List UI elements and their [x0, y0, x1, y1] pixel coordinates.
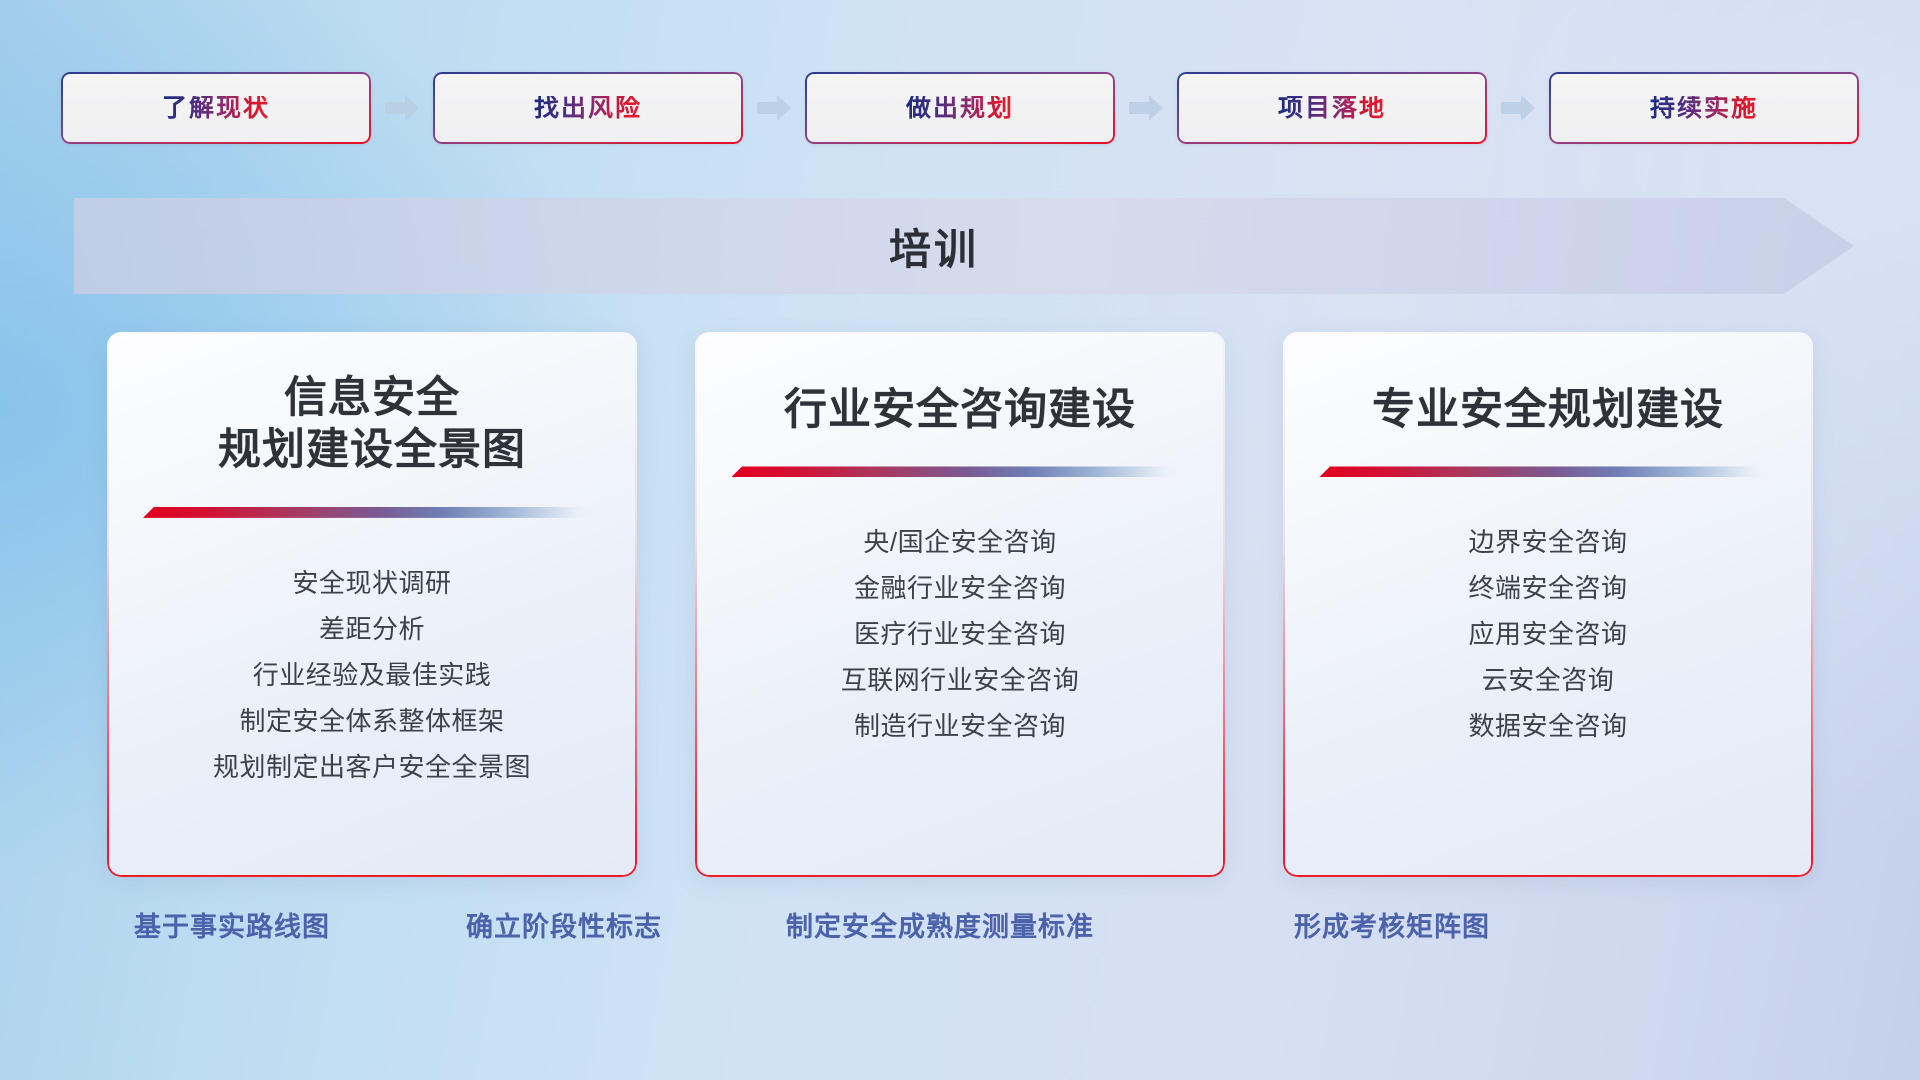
list-item: 边界安全咨询 [1283, 519, 1813, 565]
card-title-line: 规划建设全景图 [129, 424, 615, 476]
card-title-line: 行业安全咨询建设 [717, 384, 1203, 436]
list-item: 终端安全咨询 [1283, 565, 1813, 611]
list-item: 医疗行业安全咨询 [695, 611, 1225, 657]
card-divider-1 [731, 466, 1185, 477]
footer-label-row: 基于事实路线图 确立阶段性标志 制定安全成熟度测量标准 形成考核矩阵图 [0, 905, 1920, 965]
list-item: 金融行业安全咨询 [695, 565, 1225, 611]
card-title-line: 专业安全规划建设 [1305, 384, 1791, 436]
card-divider-0 [143, 507, 597, 518]
step-box-4[interactable]: 持续实施 [1549, 72, 1859, 144]
right-arrow-icon [385, 93, 419, 123]
list-item: 行业经验及最佳实践 [107, 652, 637, 698]
step-box-0[interactable]: 了解现状 [61, 72, 371, 144]
list-item: 制定安全体系整体框架 [107, 698, 637, 744]
card-divider-wrap-1 [695, 466, 1225, 479]
process-step-row: 了解现状 找出风险 做出规划 项目落地 持续实施 [0, 72, 1920, 144]
step-label-4: 持续实施 [1650, 96, 1758, 121]
card-list-0: 安全现状调研 差距分析 行业经验及最佳实践 制定安全体系整体框架 规划制定出客户… [107, 560, 637, 790]
footer-label-2: 制定安全成熟度测量标准 [786, 905, 1094, 944]
right-arrow-icon [1129, 93, 1163, 123]
service-card-2[interactable]: 专业安全规划建设 边界安全咨询 终端安全咨询 应用安全咨询 云安全咨询 数据安全… [1283, 332, 1813, 877]
step-box-3[interactable]: 项目落地 [1177, 72, 1487, 144]
card-divider-wrap-2 [1283, 466, 1813, 479]
banner-title: 培训 [74, 198, 1854, 294]
list-item: 央/国企安全咨询 [695, 519, 1225, 565]
list-item: 云安全咨询 [1283, 657, 1813, 703]
step-label-0: 了解现状 [162, 96, 270, 121]
card-list-1: 央/国企安全咨询 金融行业安全咨询 医疗行业安全咨询 互联网行业安全咨询 制造行… [695, 519, 1225, 749]
list-item: 差距分析 [107, 606, 637, 652]
card-row: 信息安全 规划建设全景图 安全现状调研 差距分析 行业经验及最佳实践 制定安全体… [0, 332, 1920, 877]
footer-label-3: 形成考核矩阵图 [1294, 905, 1490, 944]
footer-label-1: 确立阶段性标志 [466, 905, 662, 944]
footer-label-0: 基于事实路线图 [134, 905, 330, 944]
list-item: 互联网行业安全咨询 [695, 657, 1225, 703]
card-divider-2 [1319, 466, 1773, 477]
right-arrow-icon [1501, 93, 1535, 123]
card-title-0: 信息安全 规划建设全景图 [107, 372, 637, 477]
step-label-1: 找出风险 [534, 96, 642, 121]
service-card-1[interactable]: 行业安全咨询建设 央/国企安全咨询 金融行业安全咨询 医疗行业安全咨询 互联网行… [695, 332, 1225, 877]
card-title-2: 专业安全规划建设 [1283, 384, 1813, 436]
step-label-3: 项目落地 [1278, 96, 1386, 121]
step-label-2: 做出规划 [906, 96, 1014, 121]
list-item: 制造行业安全咨询 [695, 703, 1225, 749]
list-item: 规划制定出客户安全全景图 [107, 744, 637, 790]
card-title-line: 信息安全 [129, 372, 615, 424]
list-item: 安全现状调研 [107, 560, 637, 606]
step-box-2[interactable]: 做出规划 [805, 72, 1115, 144]
list-item: 数据安全咨询 [1283, 703, 1813, 749]
card-title-1: 行业安全咨询建设 [695, 384, 1225, 436]
list-item: 应用安全咨询 [1283, 611, 1813, 657]
card-list-2: 边界安全咨询 终端安全咨询 应用安全咨询 云安全咨询 数据安全咨询 [1283, 519, 1813, 749]
step-box-1[interactable]: 找出风险 [433, 72, 743, 144]
training-banner: 培训 [74, 198, 1854, 294]
service-card-0[interactable]: 信息安全 规划建设全景图 安全现状调研 差距分析 行业经验及最佳实践 制定安全体… [107, 332, 637, 877]
right-arrow-icon [757, 93, 791, 123]
card-divider-wrap-0 [107, 507, 637, 520]
